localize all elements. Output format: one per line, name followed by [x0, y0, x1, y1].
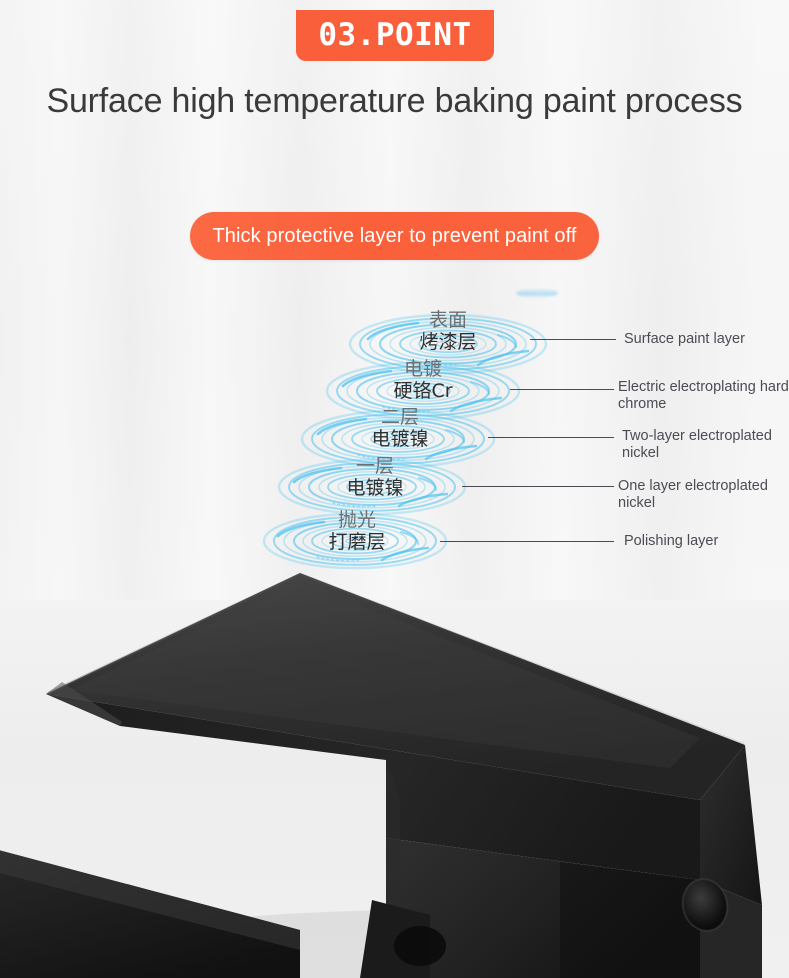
layer-2-en-label: Electric electroplating hard chrome [618, 379, 789, 413]
ripple-fragment-icon [516, 288, 558, 298]
layer-4-leader-line [462, 486, 614, 487]
ripple-layer-4 [277, 458, 467, 516]
background-lower [0, 600, 789, 978]
ripple-rings-icon-4 [277, 458, 467, 516]
layer-4-en-label: One layer electroplated nickel [618, 478, 789, 512]
ripple-rings-icon-5 [262, 512, 448, 570]
layer-5-en-label: Polishing layer [624, 533, 789, 550]
layer-3-leader-line [488, 437, 614, 438]
layer-1-en-label: Surface paint layer [624, 331, 789, 348]
layer-diagram: 表面 烤漆层 Surface paint layer [0, 0, 789, 620]
layer-3-en-label: Two-layer electroplated nickel [622, 428, 789, 462]
layer-5-leader-line [440, 541, 614, 542]
ripple-layer-5 [262, 512, 448, 570]
infographic-page: 03.POINT Surface high temperature baking… [0, 0, 789, 978]
layer-1-leader-line [530, 339, 616, 340]
layer-2-leader-line [510, 389, 614, 390]
